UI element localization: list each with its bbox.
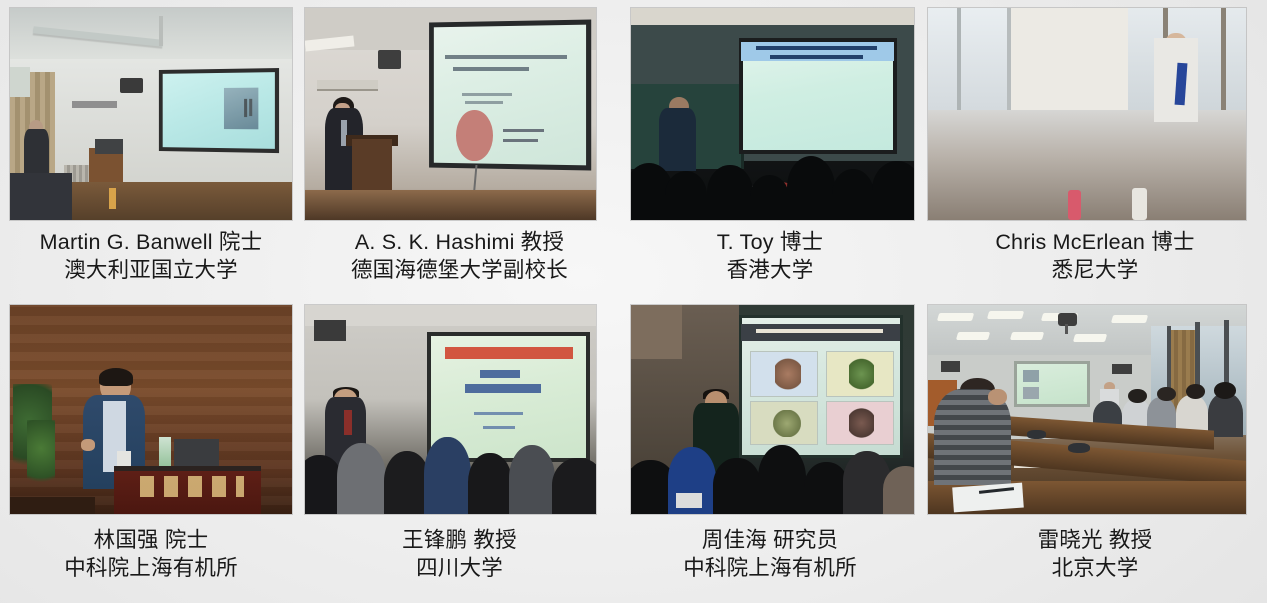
speaker-caption-toy: T. Toy 博士 香港大学 [617, 228, 923, 284]
speaker-affiliation: 澳大利亚国立大学 [0, 256, 302, 284]
speaker-photo-zhoujiahai[interactable] [631, 305, 914, 514]
dark-lecture-hall-audience-silhouettes-image [631, 8, 914, 220]
speaker-affiliation: 北京大学 [923, 554, 1267, 582]
speaker-cell-toy[interactable]: T. Toy 博士 香港大学 [617, 0, 923, 296]
speaker-name: 王锋鹏 教授 [302, 526, 617, 554]
speaker-caption-mcerlean: Chris McErlean 博士 悉尼大学 [923, 228, 1267, 284]
speaker-name: 雷晓光 教授 [923, 526, 1267, 554]
speaker-photo-banwell[interactable] [10, 8, 292, 220]
bright-classroom-full-of-students-image [928, 8, 1246, 220]
speaker-cell-leixiaoguang[interactable]: 雷晓光 教授 北京大学 [923, 296, 1267, 594]
speaker-photo-mcerlean[interactable] [928, 8, 1246, 220]
speaker-grid: Martin G. Banwell 院士 澳大利亚国立大学 A. S [0, 0, 1267, 603]
speaker-affiliation: 中科院上海有机所 [617, 554, 923, 582]
speaker-caption-hashimi: A. S. K. Hashimi 教授 德国海德堡大学副校长 [302, 228, 617, 284]
speaker-cell-wangfengpeng[interactable]: 王锋鹏 教授 四川大学 [302, 296, 617, 594]
speaker-photo-toy[interactable] [631, 8, 914, 220]
speaker-caption-wangfengpeng: 王锋鹏 教授 四川大学 [302, 526, 617, 582]
seminar-room-long-tables-attendees-image [928, 305, 1246, 514]
speaker-affiliation: 德国海德堡大学副校长 [302, 256, 617, 284]
speaker-caption-zhoujiahai: 周佳海 研究员 中科院上海有机所 [617, 526, 923, 582]
speaker-with-chinese-title-slide-and-audience-image [305, 305, 596, 514]
speaker-photo-leixiaoguang[interactable] [928, 305, 1246, 514]
speaker-gallery-slide: Martin G. Banwell 院士 澳大利亚国立大学 A. S [0, 0, 1267, 603]
speaker-cell-zhoujiahai[interactable]: 周佳海 研究员 中科院上海有机所 [617, 296, 923, 594]
speaker-name: T. Toy 博士 [617, 228, 923, 256]
speaker-photo-linguoqiang[interactable] [10, 305, 292, 514]
speaker-cell-hashimi[interactable]: A. S. K. Hashimi 教授 德国海德堡大学副校长 [302, 0, 617, 296]
speaker-name: Chris McErlean 博士 [923, 228, 1267, 256]
speaker-blue-jacket-at-red-podium-image [10, 305, 292, 514]
speaker-photo-hashimi[interactable] [305, 8, 596, 220]
speaker-affiliation: 香港大学 [617, 256, 923, 284]
speaker-affiliation: 四川大学 [302, 554, 617, 582]
speaker-cell-linguoqiang[interactable]: 林国强 院士 中科院上海有机所 [0, 296, 302, 594]
speaker-affiliation: 中科院上海有机所 [0, 554, 302, 582]
speaker-caption-leixiaoguang: 雷晓光 教授 北京大学 [923, 526, 1267, 582]
speaker-caption-linguoqiang: 林国强 院士 中科院上海有机所 [0, 526, 302, 582]
speaker-cell-mcerlean[interactable]: Chris McErlean 博士 悉尼大学 [923, 0, 1267, 296]
speaker-name: 周佳海 研究员 [617, 526, 923, 554]
speaker-affiliation: 悉尼大学 [923, 256, 1267, 284]
slide-with-dark-header-and-four-colour-panels-image [631, 305, 914, 514]
speaker-name: Martin G. Banwell 院士 [0, 228, 302, 256]
speaker-caption-banwell: Martin G. Banwell 院士 澳大利亚国立大学 [0, 228, 302, 284]
speaker-cell-banwell[interactable]: Martin G. Banwell 院士 澳大利亚国立大学 [0, 0, 302, 296]
speaker-name: A. S. K. Hashimi 教授 [302, 228, 617, 256]
speaker-photo-wangfengpeng[interactable] [305, 305, 596, 514]
speaker-in-suit-at-podium-title-slide-image [305, 8, 596, 220]
lecture-hall-projector-cyan-slide-image [10, 8, 292, 220]
speaker-name: 林国强 院士 [0, 526, 302, 554]
